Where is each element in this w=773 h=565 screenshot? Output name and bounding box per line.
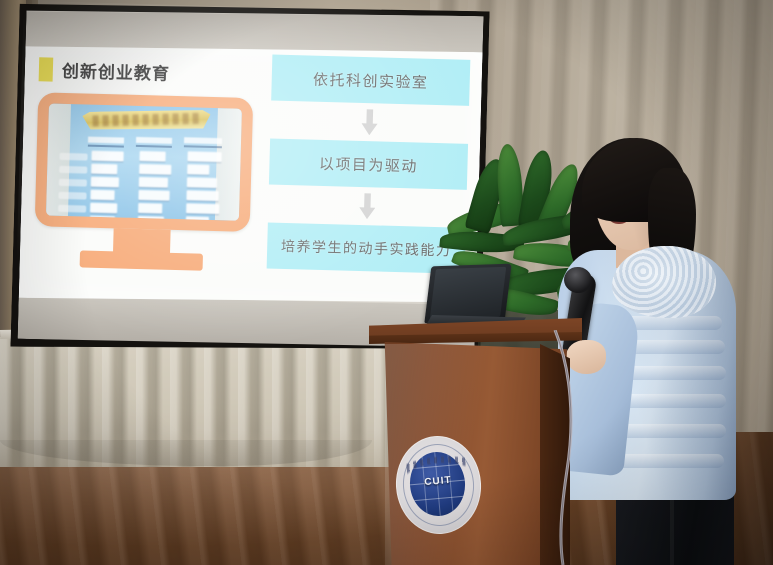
table-column-header [88,137,124,147]
slide-title: 创新创业教育 [62,57,171,85]
table-column-header [136,137,172,147]
monitor-base [80,250,203,270]
flow-arrow-2 [268,185,467,228]
flow-arrow-1 [270,101,469,144]
table-column-cells [185,151,221,220]
cable-path-icon [545,330,585,565]
flow-step-2: 以项目为驱动 [269,139,468,190]
flow-step-1: 依托科创实验室 [271,55,470,106]
presentation-photo: 创新创业教育 [0,0,773,565]
down-arrow-icon [359,193,376,219]
table-column-cells [89,151,123,221]
flow-step-2-label: 以项目为驱动 [319,152,419,176]
microphone-cable [545,330,585,565]
table-column-cells [137,151,171,221]
title-accent-bar [39,57,54,81]
laptop-display [430,267,507,319]
table-column-header [184,137,222,148]
emblem-arc-text [405,443,470,476]
monitor-illustration [34,92,254,273]
table-row-labels [57,153,87,221]
slide-content: 创新创业教育 [19,40,483,310]
university-emblem: CUIT [396,436,479,532]
slide-title-row: 创新创业教育 [39,56,171,85]
flow-step-3-label: 培养学生的动手实践能力 [281,236,452,261]
monitor-screen [46,104,242,221]
fur-texture [612,246,716,318]
flow-step-1-label: 依托科创实验室 [313,68,429,92]
down-arrow-icon [361,109,378,135]
